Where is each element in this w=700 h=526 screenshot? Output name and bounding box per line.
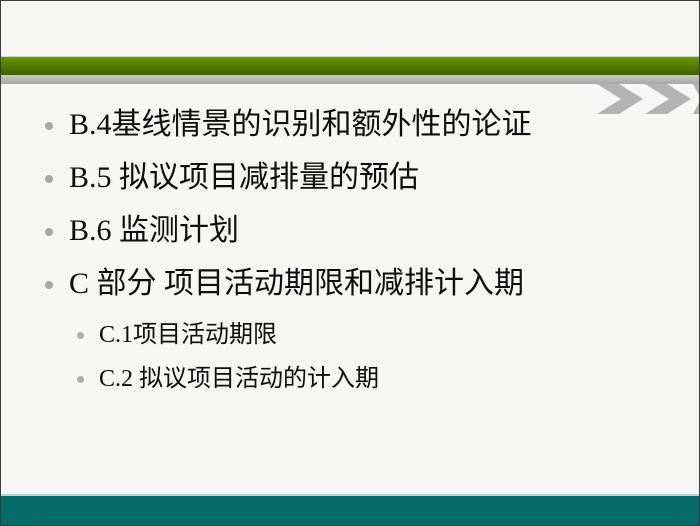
top-gray-accent-bar <box>1 75 699 84</box>
top-green-accent-bar <box>1 56 699 75</box>
list-item: C.1项目活动期限 <box>1 313 699 357</box>
list-item-label: C.1项目活动期限 <box>99 322 277 348</box>
sub-bullet-marker-icon <box>77 332 84 339</box>
presentation-slide: B.4基线情景的识别和额外性的论证 B.5 拟议项目减排量的预估 B.6 监测计… <box>0 0 700 526</box>
list-item: B.6 监测计划 <box>1 207 699 254</box>
bullet-marker-icon <box>45 175 53 183</box>
list-item: C.2 拟议项目活动的计入期 <box>1 357 699 401</box>
list-item-label: B.4基线情景的识别和额外性的论证 <box>69 108 532 141</box>
bullet-list-level2: C.1项目活动期限 C.2 拟议项目活动的计入期 <box>1 313 699 401</box>
bullet-marker-icon <box>45 122 53 130</box>
list-item: B.5 拟议项目减排量的预估 <box>1 154 699 201</box>
list-item-label: B.6 监测计划 <box>69 214 239 247</box>
bottom-teal-accent-bar <box>1 494 699 525</box>
list-item: C 部分 项目活动期限和减排计入期 <box>1 260 699 307</box>
bullet-marker-icon <box>45 228 53 236</box>
list-item-label: B.5 拟议项目减排量的预估 <box>69 161 419 194</box>
list-item-label: C 部分 项目活动期限和减排计入期 <box>69 267 524 300</box>
bullet-list-level1: B.4基线情景的识别和额外性的论证 B.5 拟议项目减排量的预估 B.6 监测计… <box>1 101 699 401</box>
slide-body: B.4基线情景的识别和额外性的论证 B.5 拟议项目减排量的预估 B.6 监测计… <box>1 101 699 401</box>
bullet-marker-icon <box>45 281 53 289</box>
sub-bullet-marker-icon <box>77 376 84 383</box>
list-item: B.4基线情景的识别和额外性的论证 <box>1 101 699 148</box>
list-item-label: C.2 拟议项目活动的计入期 <box>99 366 379 392</box>
